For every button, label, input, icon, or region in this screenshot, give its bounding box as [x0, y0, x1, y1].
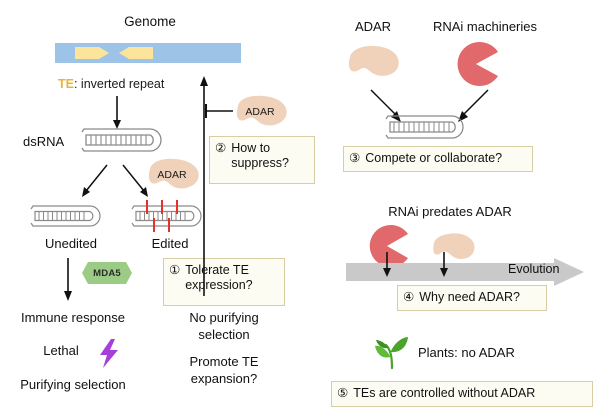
right-adar-label: ADAR — [338, 20, 408, 35]
branch-arrow-unedited — [78, 163, 112, 199]
mda5-pathway-arrow — [62, 258, 74, 302]
dsrna-label: dsRNA — [23, 135, 64, 150]
outcome-lethal: Lethal — [26, 344, 96, 359]
callout-2-line2: suppress? — [231, 156, 289, 170]
callout-1-number: ① — [169, 263, 180, 278]
figure-canvas: Genome TE: inverted repeat dsRNA — [0, 0, 600, 420]
outcome-promote-te: Promote TE — [161, 355, 287, 370]
rnai-machineries-label: RNAi machineries — [415, 20, 555, 35]
outcome-purifying-selection: Purifying selection — [4, 378, 142, 393]
unedited-label: Unedited — [21, 237, 121, 252]
evolution-label: Evolution — [508, 262, 559, 276]
callout-4-number: ④ — [403, 290, 414, 305]
callout-5-text: TEs are controlled without ADAR — [353, 386, 535, 401]
mda5-badge-label: MDA5 — [82, 262, 132, 284]
adar-blob-icon-right — [342, 44, 404, 80]
callout-1-line2: expression? — [185, 278, 252, 292]
callout-4[interactable]: ④ Why need ADAR? — [397, 285, 547, 311]
outcome-expansion: expansion? — [161, 372, 287, 387]
rnai-pacman-icon-top — [455, 43, 499, 85]
plant-sprout-icon — [374, 336, 410, 370]
lightning-bolt-icon — [97, 339, 123, 369]
callout-5-number: ⑤ — [337, 386, 348, 401]
transcription-arrow — [110, 96, 124, 130]
outcome-no-purifying: No purifying — [161, 311, 287, 326]
genome-title: Genome — [100, 14, 200, 29]
te-inverted-repeat-label: TE: inverted repeat — [58, 77, 164, 91]
callout-1-line1: Tolerate TE — [185, 263, 249, 277]
rnai-predates-adar-heading: RNAi predates ADAR — [360, 205, 540, 220]
callout-2[interactable]: ② How to suppress? — [209, 136, 315, 184]
callout-2-number: ② — [215, 141, 226, 156]
callout-2-text: How to suppress? — [231, 141, 289, 172]
callout-1-text: Tolerate TE expression? — [185, 263, 252, 294]
plants-no-adar-label: Plants: no ADAR — [418, 346, 515, 361]
callout-3-text: Compete or collaborate? — [365, 151, 502, 166]
callout-1[interactable]: ① Tolerate TE expression? — [163, 258, 285, 306]
mda5-badge-icon: MDA5 — [82, 262, 132, 284]
outcome-immune-response: Immune response — [8, 311, 138, 326]
callout-3[interactable]: ③ Compete or collaborate? — [343, 146, 533, 172]
genome-bar — [55, 43, 241, 63]
callout-5[interactable]: ⑤ TEs are controlled without ADAR — [331, 381, 593, 407]
te-label-rest: : inverted repeat — [74, 77, 164, 91]
rna-hairpin-icon — [78, 126, 178, 156]
branch-arrow-edited — [118, 163, 152, 199]
timeline-tick-rnai — [381, 252, 393, 278]
callout-2-line1: How to — [231, 141, 270, 155]
rna-hairpin-icon-right — [382, 113, 480, 143]
timeline-tick-adar — [438, 252, 450, 278]
outcome-selection: selection — [161, 328, 287, 343]
callout-3-number: ③ — [349, 151, 360, 166]
callout-4-text: Why need ADAR? — [419, 290, 520, 305]
te-label-prefix: TE — [58, 77, 74, 91]
rna-hairpin-unedited-icon — [27, 203, 115, 231]
adar-blob-icon-upper: ADAR — [228, 94, 292, 130]
